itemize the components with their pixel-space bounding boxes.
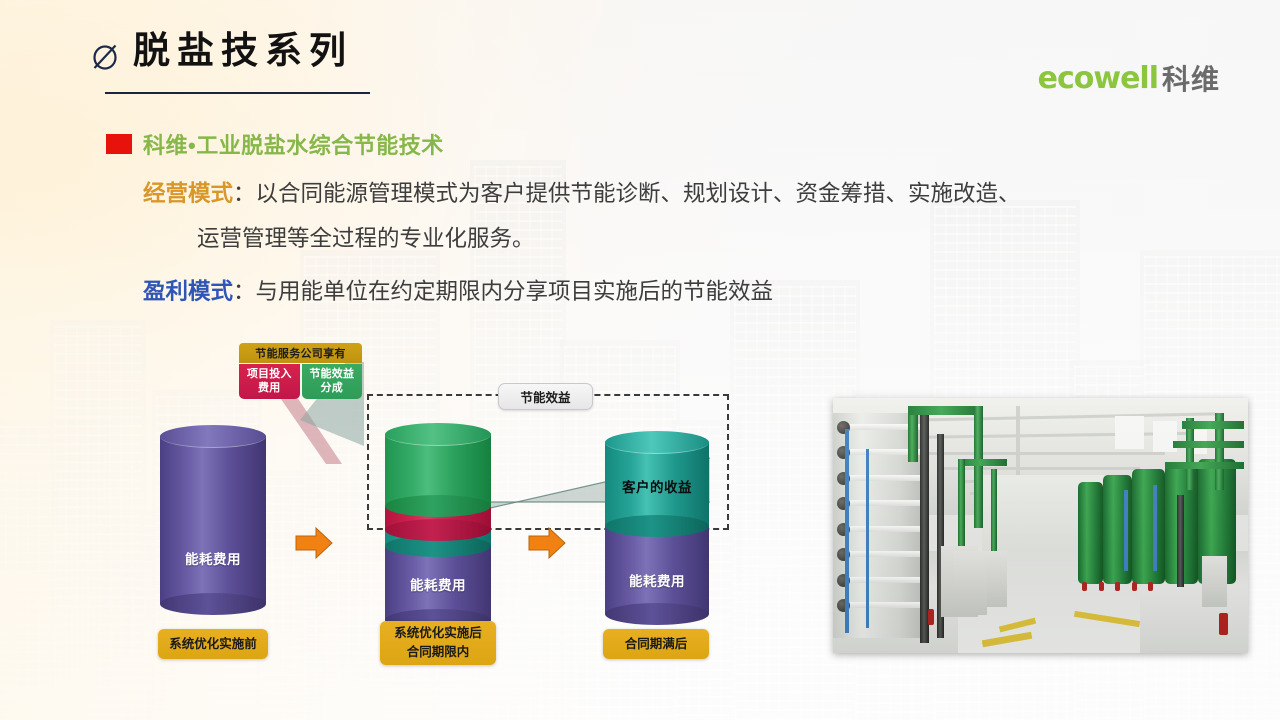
photo-shading <box>833 398 1248 653</box>
colon-2: ： <box>233 279 256 304</box>
legend-cell-line2: 分成 <box>321 382 343 396</box>
caption-during-contract: 系统优化实施后 合同期限内 <box>380 621 496 665</box>
profit-model-line: 盈利模式：与用能单位在约定期限内分享项目实施后的节能效益 <box>143 281 773 304</box>
legend-cells: 项目投入 费用 节能效益 分成 <box>239 364 362 399</box>
cylinder-before-optimization: 能耗费用 <box>160 436 266 604</box>
right-arrow-icon <box>294 526 334 560</box>
right-arrow-icon <box>527 526 567 560</box>
logo-brand-text: ecowell <box>1038 61 1158 96</box>
cylinder-label-customer-benefit: 客户的收益 <box>605 476 709 496</box>
business-model-text1: 以合同能源管理模式为客户提供节能诊断、规划设计、资金筹措、实施改造、 <box>256 181 1021 206</box>
caption-line2: 合同期限内 <box>407 643 470 662</box>
caption-line1: 合同期满后 <box>625 635 688 654</box>
cylinder-label-energy-cost: 能耗费用 <box>160 548 266 568</box>
slashed-circle-icon <box>90 41 120 71</box>
section-heading-row: 科维•工业脱盐水综合节能技术 <box>106 128 444 160</box>
business-model-key: 经营模式 <box>143 181 233 206</box>
caption-line1: 系统优化实施前 <box>169 635 257 654</box>
page-title: 脱盐技系列 <box>133 32 353 69</box>
title-divider <box>105 92 370 94</box>
legend-cell-project-cost: 项目投入 费用 <box>239 364 300 399</box>
business-model-line2: 运营管理等全过程的专业化服务。 <box>197 228 535 251</box>
legend-cell-line1: 项目投入 <box>247 368 292 382</box>
slide: 脱盐技系列 ecowell 科维 科维•工业脱盐水综合节能技术 经营模式：以合同… <box>0 0 1280 720</box>
cylinder-segment-purple <box>605 524 709 614</box>
energy-saving-diagram: 节能效益 节能服务公司享有 项目投入 费用 节能效益 分成 <box>0 330 830 700</box>
cylinder-during-contract: 能耗费用 <box>385 420 491 620</box>
section-heading: 科维•工业脱盐水综合节能技术 <box>143 128 444 160</box>
legend-box: 节能服务公司享有 项目投入 费用 节能效益 分成 <box>239 343 362 399</box>
profit-model-text: 与用能单位在约定期限内分享项目实施后的节能效益 <box>256 279 774 304</box>
cylinder-label-energy-cost: 能耗费用 <box>385 574 491 594</box>
colon-1: ： <box>233 181 256 206</box>
energy-saving-tag: 节能效益 <box>498 383 593 410</box>
red-square-bullet-icon <box>106 134 132 154</box>
profit-model-key: 盈利模式 <box>143 279 233 304</box>
desalination-plant-photo <box>833 398 1248 653</box>
caption-after-contract: 合同期满后 <box>603 629 709 659</box>
legend-cell-saving-share: 节能效益 分成 <box>302 364 363 399</box>
cylinder-segment-green <box>385 434 491 506</box>
caption-line1: 系统优化实施后 <box>394 624 482 643</box>
ecowell-logo: ecowell 科维 <box>1038 58 1220 98</box>
caption-before-optimization: 系统优化实施前 <box>158 629 268 659</box>
legend-cell-line2: 费用 <box>258 382 280 396</box>
legend-cell-line1: 节能效益 <box>309 368 354 382</box>
cylinder-segment-purple <box>160 436 266 604</box>
business-model-line1: 经营模式：以合同能源管理模式为客户提供节能诊断、规划设计、资金筹措、实施改造、 <box>143 183 1021 206</box>
logo-chinese-text: 科维 <box>1162 58 1220 98</box>
cylinder-label-energy-cost: 能耗费用 <box>605 570 709 590</box>
legend-title: 节能服务公司享有 <box>239 343 362 363</box>
cylinder-after-contract: 客户的收益 能耗费用 <box>605 428 709 614</box>
